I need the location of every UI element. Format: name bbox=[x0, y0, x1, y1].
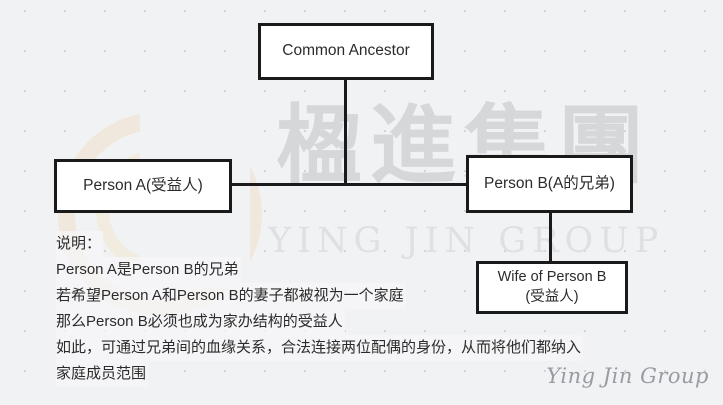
diagram-canvas: 楹進集團 YING JIN GROUP Ying Jin Group Commo… bbox=[0, 0, 723, 405]
note-line: 家庭成员范围 bbox=[56, 361, 148, 387]
node-person-a[interactable]: Person A(受益人) bbox=[54, 159, 232, 213]
note-line: Person A是Person B的兄弟 bbox=[56, 257, 241, 283]
note-line: 说明： bbox=[56, 231, 103, 257]
note-line: 若希望Person A和Person B的妻子都被视为一个家庭 bbox=[56, 283, 406, 309]
node-person-a-label: Person A(受益人) bbox=[83, 176, 203, 196]
note-line: 如此，可通过兄弟间的血缘关系，合法连接两位配偶的身份，从而将他们都纳入 bbox=[56, 335, 583, 361]
node-person-b-label: Person B(A的兄弟) bbox=[484, 174, 615, 194]
node-common-ancestor-label: Common Ancestor bbox=[282, 41, 410, 61]
edge-sibling-bar bbox=[230, 183, 468, 186]
node-common-ancestor[interactable]: Common Ancestor bbox=[258, 23, 434, 80]
edge-ancestor-to-siblings bbox=[344, 79, 347, 186]
note-line: 那么Person B必须也成为家办结构的受益人 bbox=[56, 309, 345, 335]
node-person-b[interactable]: Person B(A的兄弟) bbox=[466, 155, 633, 213]
explanation-note: 说明： Person A是Person B的兄弟 若希望Person A和Per… bbox=[56, 231, 583, 387]
